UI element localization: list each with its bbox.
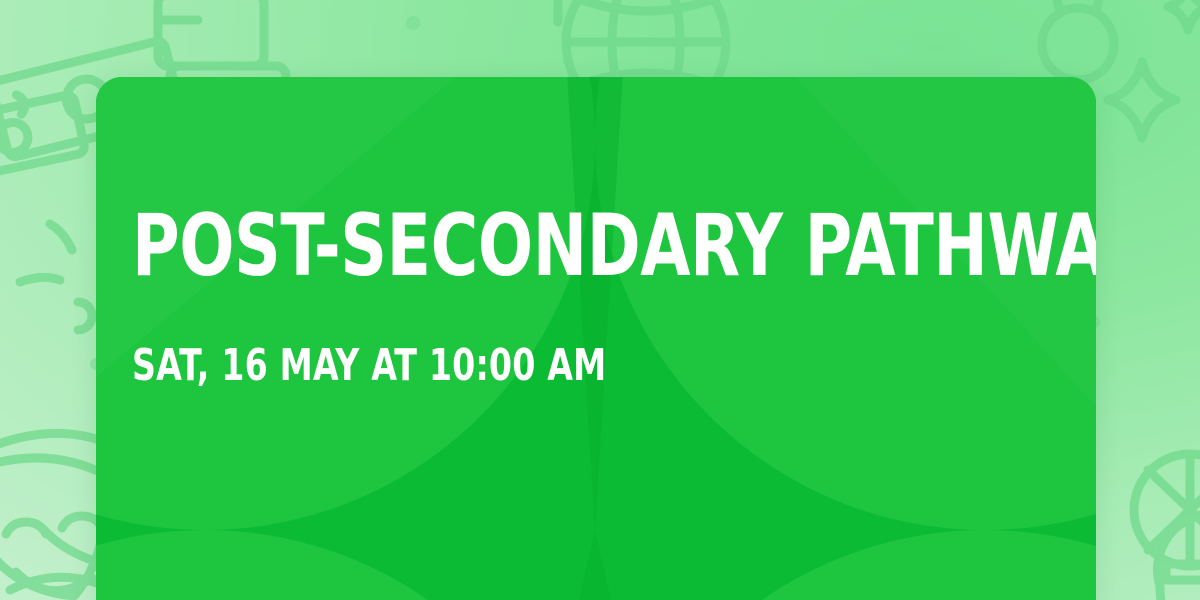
book-stack-icon [158,0,286,86]
medal-ribbon-icon [1042,0,1114,80]
sparkle-icon [1108,62,1176,138]
sparkle-icon [1168,0,1200,30]
banknote-icon [0,94,86,181]
event-title: POST-SECONDARY PATHWAYS FAIR [132,209,1096,285]
graduation-cap-icon [20,224,92,330]
event-cover-card[interactable]: POST-SECONDARY PATHWAYS FAIR SAT, 16 MAY… [96,77,1096,600]
event-cover-screenshot: POST-SECONDARY PATHWAYS FAIR SAT, 16 MAY… [0,0,1200,600]
card-text-block: POST-SECONDARY PATHWAYS FAIR SAT, 16 MAY… [132,77,1072,600]
event-datetime: SAT, 16 MAY AT 10:00 AM [132,344,606,388]
